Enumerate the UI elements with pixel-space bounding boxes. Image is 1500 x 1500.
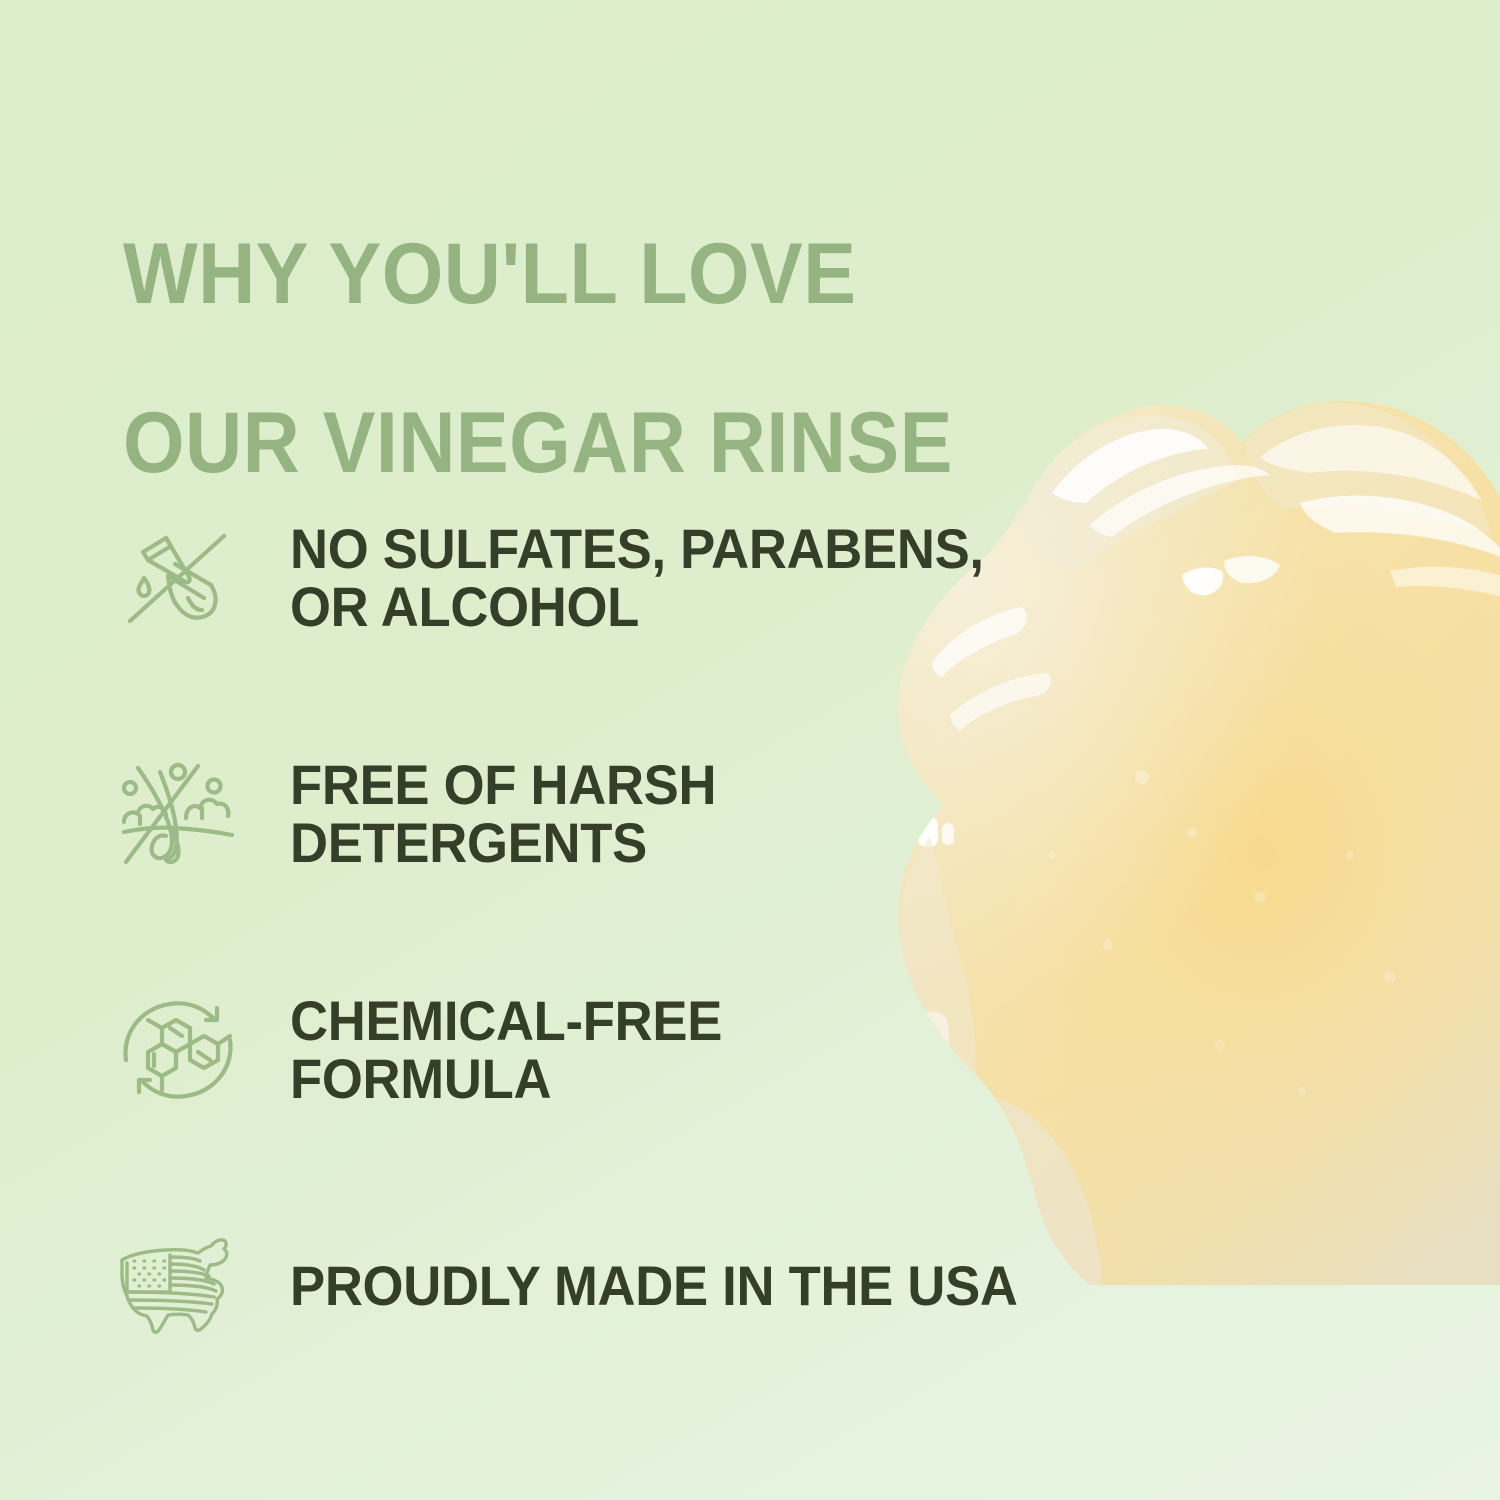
feature-item-chemical-free: CHEMICAL-FREE FORMULA — [0, 962, 1120, 1138]
headline-line-2: OUR VINEGAR RINSE — [123, 401, 1135, 485]
feature-item-made-in-usa: PROUDLY MADE IN THE USA — [0, 1198, 1120, 1374]
chemical-free-molecule-icon — [103, 988, 253, 1113]
infographic-canvas: WHY YOU'LL LOVE OUR VINEGAR RINSE — [0, 0, 1500, 1500]
headline-line-1: WHY YOU'LL LOVE — [123, 232, 1135, 316]
usa-map-flag-icon — [103, 1224, 253, 1349]
feature-label: NO SULFATES, PARABENS, OR ALCOHOL — [290, 520, 984, 635]
feature-list: NO SULFATES, PARABENS, OR ALCOHOL — [0, 490, 1120, 1434]
feature-label: CHEMICAL-FREE FORMULA — [290, 992, 722, 1107]
no-chemicals-flask-icon — [103, 516, 253, 641]
feature-label: PROUDLY MADE IN THE USA — [290, 1257, 1018, 1315]
feature-item-no-sulfates: NO SULFATES, PARABENS, OR ALCOHOL — [0, 490, 1120, 666]
feature-item-no-detergents: FREE OF HARSH DETERGENTS — [0, 726, 1120, 902]
feature-label: FREE OF HARSH DETERGENTS — [290, 756, 716, 871]
no-harsh-detergents-follicle-icon — [103, 752, 253, 877]
